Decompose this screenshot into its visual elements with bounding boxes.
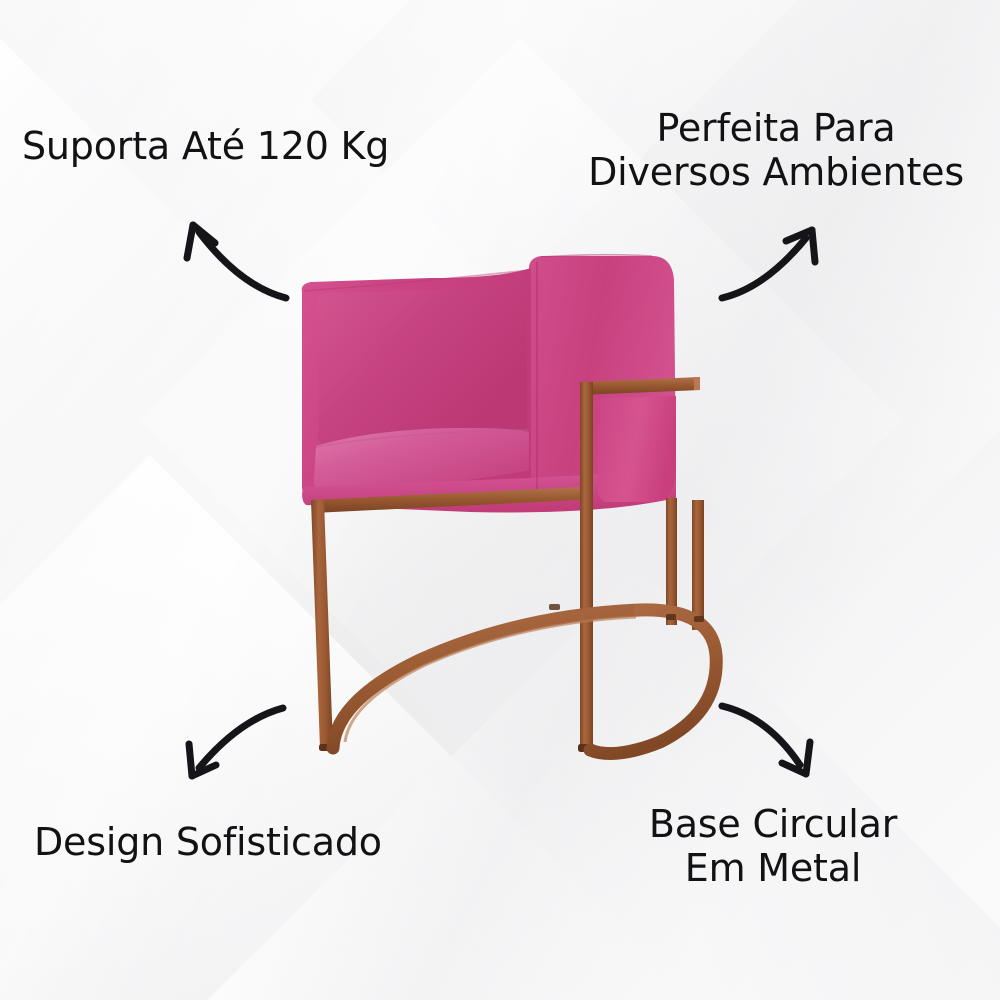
curved-arrow-up-right-icon bbox=[722, 230, 815, 298]
callout-label-base-circular-em-metal: Base Circular Em Metal bbox=[608, 802, 938, 891]
product-feature-image: Suporta Até 120 Kg Perfeita Para Diverso… bbox=[0, 0, 1000, 1000]
callout-label-perfeita-para-diversos-ambientes: Perfeita Para Diversos Ambientes bbox=[566, 106, 986, 195]
curved-arrow-up-left-icon bbox=[187, 225, 286, 298]
curved-arrow-down-left-icon bbox=[189, 708, 283, 776]
callout-label-design-sofisticado: Design Sofisticado bbox=[34, 820, 382, 864]
curved-arrow-down-right-icon bbox=[722, 706, 810, 774]
callout-label-suporta-ate-120-kg: Suporta Até 120 Kg bbox=[22, 124, 389, 168]
